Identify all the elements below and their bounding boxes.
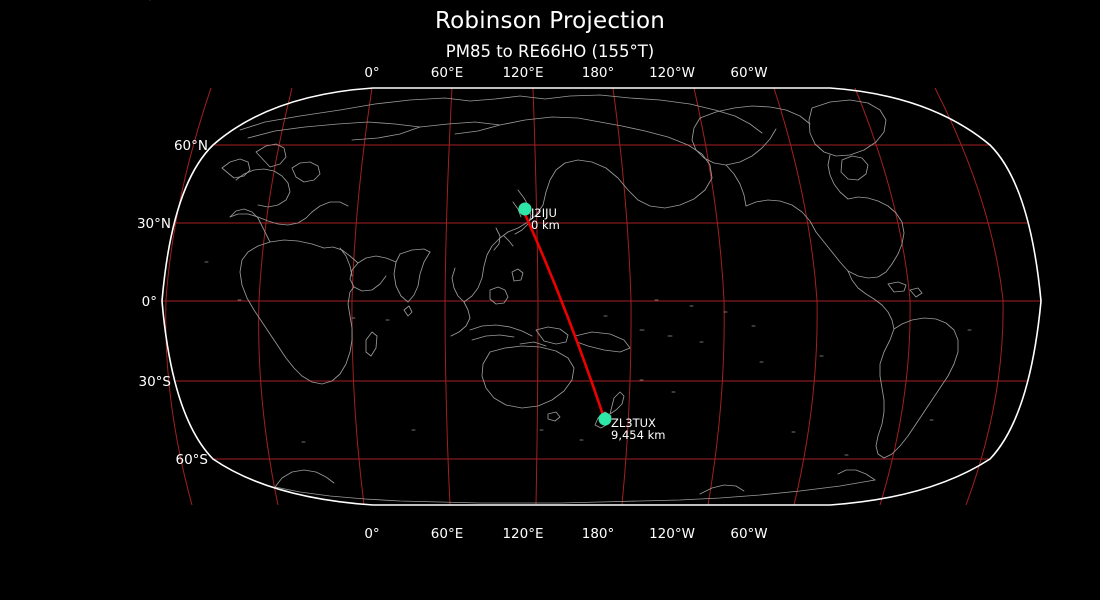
station-label-origin: J2IJU 0 km xyxy=(530,206,560,232)
lon-label-bottom-2: 120°E xyxy=(502,526,543,542)
map-canvas[interactable]: J2IJU 0 km ZL3TUX 9,454 km 0° 60°E 120°E… xyxy=(0,0,1100,600)
lon-label-bottom-0: 0° xyxy=(364,526,379,542)
graticule-meridians xyxy=(166,88,1003,505)
lat-label-0: 0° xyxy=(142,294,157,310)
lon-label-bottom-4: 120°W xyxy=(649,526,695,542)
lon-label-bottom-5: 60°W xyxy=(730,526,767,542)
lon-label-top-0: 0° xyxy=(364,65,379,81)
station-marker-destination[interactable] xyxy=(599,413,612,426)
lat-label-60s: 60°S xyxy=(176,452,209,468)
origin-distance: 0 km xyxy=(531,218,560,232)
lon-label-top-3: 180° xyxy=(582,65,615,81)
station-label-destination: ZL3TUX 9,454 km xyxy=(611,416,665,442)
lat-label-60n: 60°N xyxy=(174,138,208,154)
lon-label-top-4: 120°W xyxy=(649,65,695,81)
longitude-labels-bottom: 0° 60°E 120°E 180° 120°W 60°W xyxy=(364,526,767,542)
lat-label-30s: 30°S xyxy=(139,374,172,390)
great-circle-path xyxy=(524,212,604,418)
lon-label-bottom-1: 60°E xyxy=(431,526,463,542)
robinson-projection-map: Robinson Projection PM85 to RE66HO (155°… xyxy=(0,0,1100,600)
station-marker-origin[interactable] xyxy=(519,203,532,216)
lon-label-bottom-3: 180° xyxy=(582,526,615,542)
destination-distance: 9,454 km xyxy=(611,428,665,442)
lat-label-30n: 30°N xyxy=(137,216,171,232)
lon-label-top-5: 60°W xyxy=(730,65,767,81)
map-boundary xyxy=(162,88,1041,505)
latitude-labels: 60°N 30°N 0° 30°S 60°S xyxy=(137,138,208,468)
longitude-labels-top: 0° 60°E 120°E 180° 120°W 60°W xyxy=(364,65,767,81)
lon-label-top-2: 120°E xyxy=(502,65,543,81)
coastlines xyxy=(150,0,971,503)
lon-label-top-1: 60°E xyxy=(431,65,463,81)
